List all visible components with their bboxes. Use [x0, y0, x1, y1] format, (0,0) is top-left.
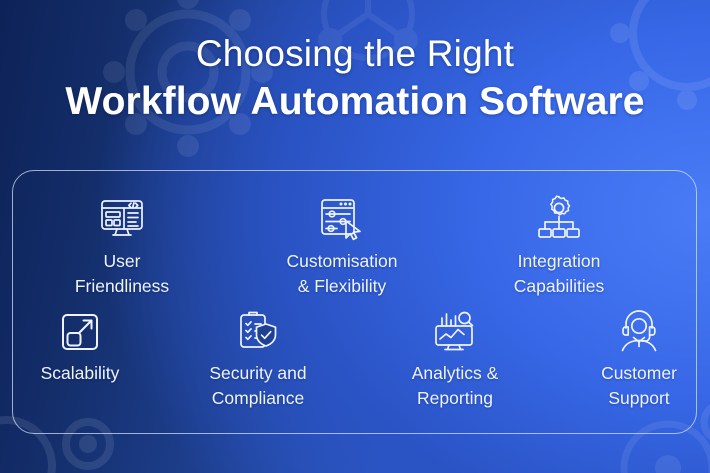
title-line-1: Choosing the Right [0, 30, 710, 78]
settings-sliders-cursor-icon [262, 193, 422, 241]
clipboard-shield-check-icon [180, 305, 336, 353]
expand-arrow-square-icon [4, 305, 156, 353]
feature-customer-support[interactable]: Customer Support [570, 305, 708, 410]
feature-label: Scalability [4, 361, 156, 386]
feature-customisation[interactable]: Customisation & Flexibility [262, 193, 422, 298]
title-line-2: Workflow Automation Software [0, 78, 710, 126]
feature-label: Security and Compliance [180, 361, 336, 410]
feature-label: Customer Support [570, 361, 708, 410]
feature-integration[interactable]: Integration Capabilities [480, 193, 638, 298]
gear-hierarchy-icon [480, 193, 638, 241]
feature-scalability[interactable]: Scalability [4, 305, 156, 386]
feature-label: Analytics & Reporting [380, 361, 530, 410]
page-title: Choosing the Right Workflow Automation S… [0, 30, 710, 126]
feature-label: Customisation & Flexibility [262, 249, 422, 298]
monitor-chart-magnifier-icon [380, 305, 530, 353]
feature-label: Integration Capabilities [480, 249, 638, 298]
feature-security[interactable]: Security and Compliance [180, 305, 336, 410]
infographic-canvas: Choosing the Right Workflow Automation S… [0, 0, 710, 473]
feature-label: User Friendliness [47, 249, 197, 298]
headset-agent-icon [570, 305, 708, 353]
monitor-code-icon [47, 193, 197, 241]
feature-analytics[interactable]: Analytics & Reporting [380, 305, 530, 410]
feature-user-friendliness[interactable]: User Friendliness [47, 193, 197, 298]
